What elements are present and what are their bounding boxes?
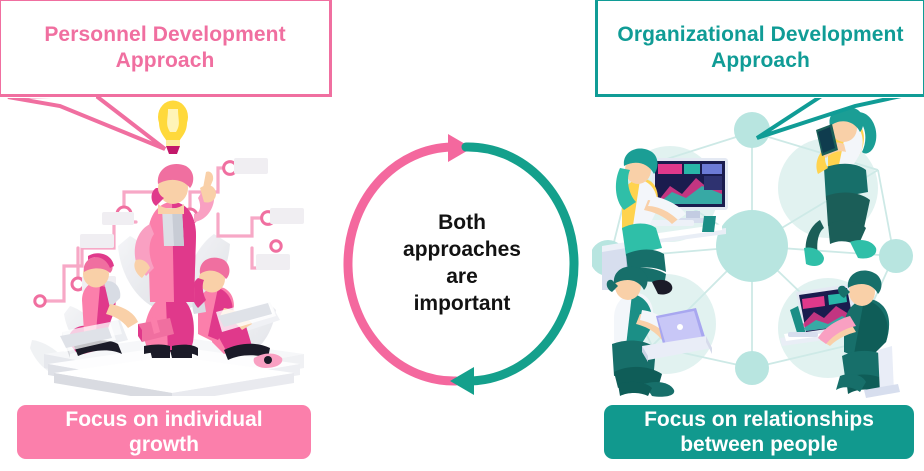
callout-personnel-development: Personnel Development Approach [0,0,332,97]
lightbulb-icon [158,101,188,155]
callout-left-line2: Approach [116,49,215,72]
personnel-development-illustration [18,96,320,396]
banner-left-line2: growth [129,433,199,456]
banner-left-line1: Focus on individual [65,408,262,431]
callout-left-text: Personnel Development Approach [30,22,299,73]
callout-left-line1: Personnel Development [44,23,285,46]
banner-right-text: Focus on relationships between people [644,407,874,457]
infographic-canvas: Both approaches are important Personnel … [0,0,924,471]
banner-right-line1: Focus on relationships [644,408,874,431]
callout-organizational-development: Organizational Development Approach [595,0,924,97]
banner-left-text: Focus on individual growth [65,407,262,457]
callout-right-line1: Organizational Development [617,23,903,46]
banner-focus-individual-growth: Focus on individual growth [17,405,311,459]
cycle-center-text: Both approaches are important [370,208,554,320]
cycle-text-line3: are [403,264,521,291]
arrow-teal-head-icon [450,367,474,395]
cycle-text-line4: important [403,291,521,318]
callout-right-line2: Approach [711,49,810,72]
cycle-text-line1: Both [403,210,521,237]
callout-right-text: Organizational Development Approach [603,22,917,73]
banner-focus-relationships: Focus on relationships between people [604,405,914,459]
organizational-development-illustration [592,96,914,398]
banner-right-line2: between people [680,433,838,456]
cycle-text-line2: approaches [403,237,521,264]
